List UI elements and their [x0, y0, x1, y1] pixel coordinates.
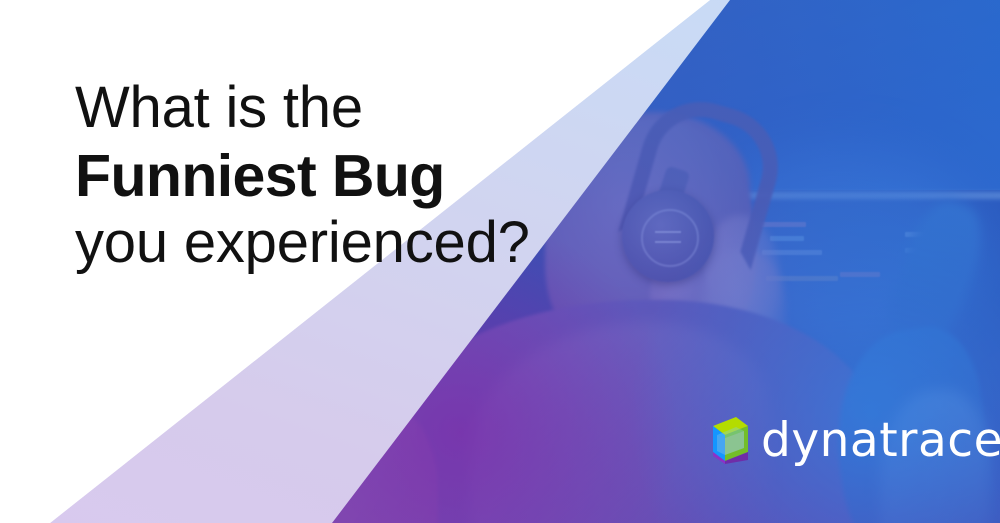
dynatrace-logo: dynatrace	[703, 415, 1000, 465]
headline-line-2: Funniest Bug	[75, 146, 635, 206]
headline-line-1: What is the	[75, 78, 635, 137]
promo-banner: What is the Funniest Bug you experienced…	[0, 0, 1000, 523]
dynatrace-wordmark: dynatrace	[761, 417, 1000, 464]
headline-line-3: you experienced?	[75, 213, 635, 272]
dynatrace-cube-icon	[703, 415, 749, 465]
headline: What is the Funniest Bug you experienced…	[75, 78, 635, 272]
